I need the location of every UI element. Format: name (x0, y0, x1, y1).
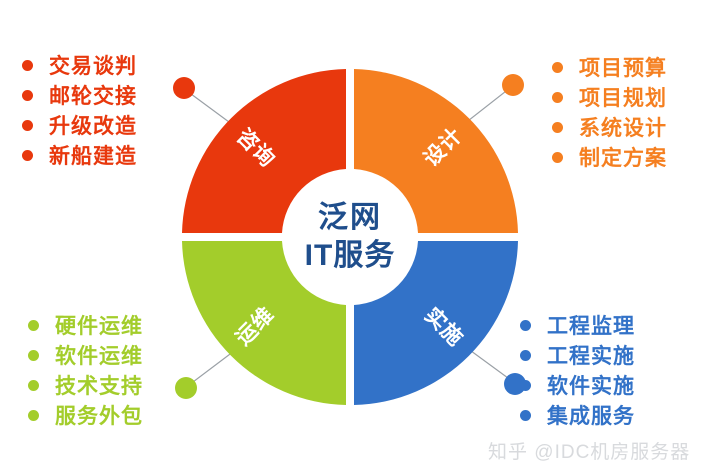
bullet-icon (520, 350, 531, 361)
center-label: 泛网 IT服务 (250, 180, 450, 294)
list-item-label: 软件运维 (55, 340, 143, 370)
bullet-icon (552, 92, 563, 103)
list-item-label: 工程监理 (547, 310, 635, 340)
list-item[interactable]: 项目规划 (552, 82, 667, 112)
bullet-icon (552, 122, 563, 133)
list-operations: 硬件运维 软件运维 技术支持 服务外包 (28, 310, 143, 430)
list-item-label: 制定方案 (579, 142, 667, 172)
center-label-line2: IT服务 (305, 239, 396, 274)
list-item-label: 项目预算 (579, 52, 667, 82)
bullet-icon (22, 90, 33, 101)
list-implementation: 工程监理 工程实施 软件实施 集成服务 (520, 310, 635, 430)
list-item-label: 交易谈判 (49, 50, 137, 80)
watermark: 知乎 @IDC机房服务器 (488, 437, 690, 464)
bullet-icon (22, 120, 33, 131)
list-item-label: 项目规划 (579, 82, 667, 112)
list-item-label: 硬件运维 (55, 310, 143, 340)
list-item[interactable]: 交易谈判 (22, 50, 137, 80)
bullet-icon (552, 152, 563, 163)
list-item[interactable]: 服务外包 (28, 400, 143, 430)
list-item[interactable]: 工程监理 (520, 310, 635, 340)
bullet-icon (28, 320, 39, 331)
list-item[interactable]: 制定方案 (552, 142, 667, 172)
list-item[interactable]: 软件实施 (520, 370, 635, 400)
bullet-icon (520, 410, 531, 421)
list-item[interactable]: 邮轮交接 (22, 80, 137, 110)
center-label-line1: 泛网 (318, 201, 382, 236)
bullet-icon (28, 380, 39, 391)
list-consulting: 交易谈判 邮轮交接 升级改造 新船建造 (22, 50, 137, 170)
bullet-icon (28, 350, 39, 361)
list-item-label: 邮轮交接 (49, 80, 137, 110)
list-item-label: 系统设计 (579, 112, 667, 142)
list-item-label: 集成服务 (547, 400, 635, 430)
list-item[interactable]: 工程实施 (520, 340, 635, 370)
bullet-icon (22, 60, 33, 71)
list-item[interactable]: 软件运维 (28, 340, 143, 370)
bullet-icon (520, 380, 531, 391)
list-item-label: 升级改造 (49, 110, 137, 140)
bullet-icon (28, 410, 39, 421)
list-item-label: 服务外包 (55, 400, 143, 430)
bullet-icon (22, 150, 33, 161)
list-item-label: 技术支持 (55, 370, 143, 400)
infographic-canvas: 咨询 设计 运维 实施 泛网 IT服务 交易谈判 邮轮交接 升级改造 新船建造 (0, 0, 710, 475)
list-item[interactable]: 硬件运维 (28, 310, 143, 340)
list-item[interactable]: 系统设计 (552, 112, 667, 142)
list-design: 项目预算 项目规划 系统设计 制定方案 (552, 52, 667, 172)
list-item[interactable]: 技术支持 (28, 370, 143, 400)
list-item-label: 工程实施 (547, 340, 635, 370)
list-item-label: 软件实施 (547, 370, 635, 400)
bullet-icon (552, 62, 563, 73)
list-item[interactable]: 项目预算 (552, 52, 667, 82)
list-item-label: 新船建造 (49, 140, 137, 170)
list-item[interactable]: 新船建造 (22, 140, 137, 170)
list-item[interactable]: 集成服务 (520, 400, 635, 430)
bullet-icon (520, 320, 531, 331)
list-item[interactable]: 升级改造 (22, 110, 137, 140)
